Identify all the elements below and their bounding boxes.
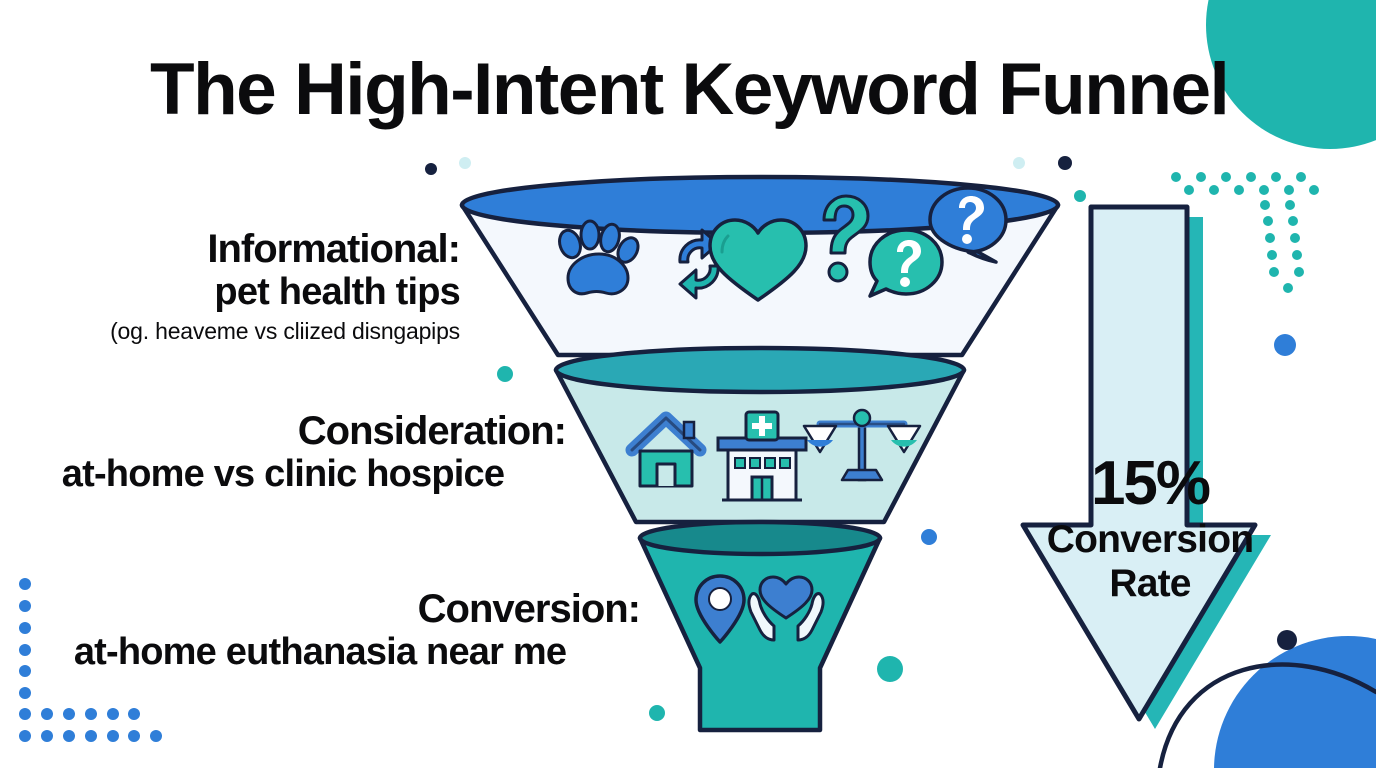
- stage-heading-informational: Informational:: [0, 228, 460, 271]
- stage-note-informational: (og. heaveme vs cliized disngapips: [0, 318, 460, 344]
- stage-heading-consideration: Consideration:: [0, 410, 566, 453]
- funnel-tier-conversion-rim: [640, 522, 880, 554]
- stage-label-informational: Informational: pet health tips (og. heav…: [0, 228, 460, 344]
- funnel-tier-conversion: [640, 522, 880, 730]
- stage-keyword-consideration: at-home vs clinic hospice: [0, 453, 566, 496]
- infographic-canvas: The High-Intent Keyword Funnel: [0, 0, 1376, 768]
- accent-dot-navy: [425, 163, 437, 175]
- stage-heading-conversion: Conversion:: [0, 588, 640, 631]
- stage-keyword-conversion: at-home euthanasia near me: [0, 631, 640, 674]
- conversion-rate-caption: Conversion Rate: [985, 518, 1315, 605]
- stage-label-consideration: Consideration: at-home vs clinic hospice: [0, 410, 566, 496]
- conversion-rate-stat: 15% Conversion Rate: [985, 455, 1315, 605]
- conversion-rate-caption-line1: Conversion: [985, 518, 1315, 562]
- conversion-rate-caption-line2: Rate: [985, 562, 1315, 606]
- stage-label-conversion: Conversion: at-home euthanasia near me: [0, 588, 640, 674]
- question-speech-bubble-icon: [870, 230, 942, 296]
- funnel-tier-conversion-body: [640, 538, 880, 730]
- conversion-rate-value: 15%: [985, 455, 1315, 514]
- funnel-tier-consideration-rim: [556, 348, 964, 392]
- stage-keyword-informational: pet health tips: [0, 271, 460, 314]
- page-title: The High-Intent Keyword Funnel: [150, 52, 1240, 129]
- funnel-tier-consideration: [556, 348, 964, 522]
